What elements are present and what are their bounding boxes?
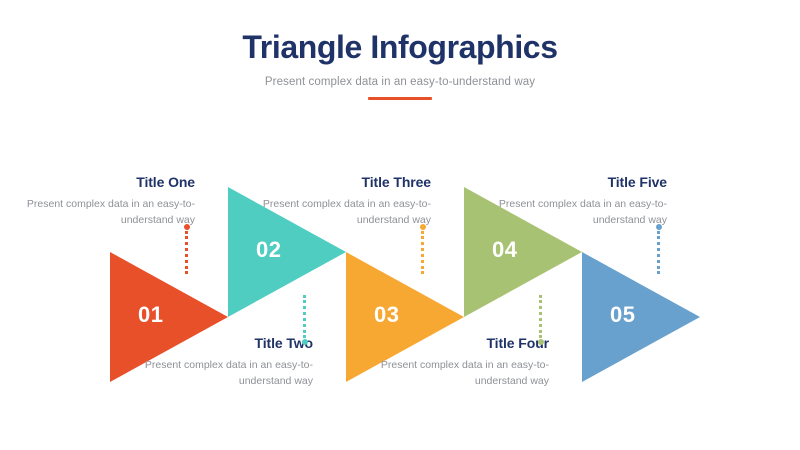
connector-02 [303,295,306,345]
connector-05 [657,224,660,274]
connector-line-01 [185,231,188,274]
connector-dot-03 [420,224,426,230]
connector-01 [185,224,188,274]
connector-04 [539,295,542,345]
connector-line-03 [421,231,424,274]
text-block-01: Title One Present complex data in an eas… [20,174,195,229]
connector-dot-04 [538,339,544,345]
step-title-01: Title One [20,174,195,190]
triangle-number-01: 01 [138,302,163,328]
page-title: Triangle Infographics [0,30,800,65]
step-description-04: Present complex data in an easy-to-under… [374,357,549,390]
text-block-03: Title Three Present complex data in an e… [256,174,431,229]
page-subtitle: Present complex data in an easy-to-under… [0,76,800,88]
triangle-shape-05[interactable] [582,252,700,382]
header-divider [368,97,432,100]
step-description-01: Present complex data in an easy-to-under… [20,196,195,229]
connector-dot-05 [656,224,662,230]
connector-line-05 [657,231,660,274]
step-description-02: Present complex data in an easy-to-under… [138,357,313,390]
triangle-number-05: 05 [610,302,635,328]
step-title-03: Title Three [256,174,431,190]
step-title-05: Title Five [492,174,667,190]
step-title-04: Title Four [374,335,549,351]
text-block-05: Title Five Present complex data in an ea… [492,174,667,229]
step-description-03: Present complex data in an easy-to-under… [256,196,431,229]
connector-dot-02 [302,339,308,345]
connector-03 [421,224,424,274]
step-description-05: Present complex data in an easy-to-under… [492,196,667,229]
text-block-02: Title Two Present complex data in an eas… [138,335,313,390]
text-block-04: Title Four Present complex data in an ea… [374,335,549,390]
connector-line-02 [303,295,306,338]
connector-line-04 [539,295,542,338]
infographic-slide: Triangle Infographics Present complex da… [0,0,800,450]
slide-header: Triangle Infographics Present complex da… [0,30,800,100]
triangle-number-04: 04 [492,237,517,263]
step-title-02: Title Two [138,335,313,351]
triangle-number-03: 03 [374,302,399,328]
connector-dot-01 [184,224,190,230]
triangle-number-02: 02 [256,237,281,263]
